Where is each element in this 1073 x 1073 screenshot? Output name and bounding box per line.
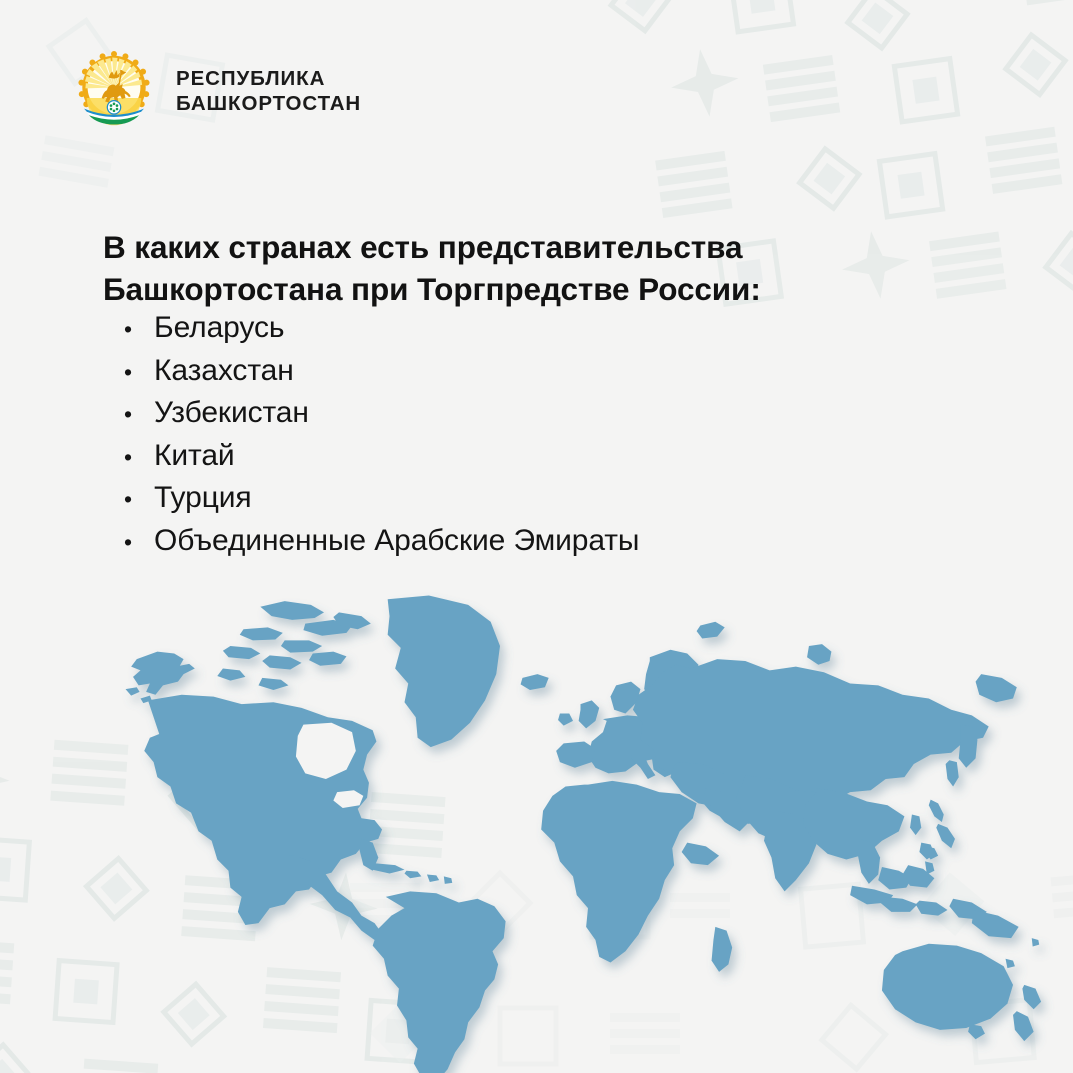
world-map-icon <box>112 588 1064 1028</box>
country-label: Узбекистан <box>154 397 309 429</box>
country-label: Турция <box>154 482 252 514</box>
list-item: • Объединенные Арабские Эмираты <box>124 525 639 568</box>
brand-line-2: БАШКОРТОСТАН <box>176 91 361 116</box>
bullet-icon: • <box>124 446 154 469</box>
bullet-icon: • <box>124 361 154 384</box>
poster-canvas: РЕСПУБЛИКА БАШКОРТОСТАН В каких странах … <box>0 0 1073 1073</box>
list-item: • Узбекистан <box>124 397 639 440</box>
country-label: Казахстан <box>154 355 294 387</box>
list-item: • Турция <box>124 482 639 525</box>
list-item: • Казахстан <box>124 355 639 398</box>
bullet-icon: • <box>124 318 154 341</box>
page-title: В каких странах есть представительства Б… <box>103 227 943 310</box>
page-title-line-2: Башкортостана при Торгпредстве России: <box>103 269 943 311</box>
country-list: • Беларусь • Казахстан • Узбекистан • Ки… <box>124 312 639 567</box>
world-map <box>112 588 1064 1028</box>
brand-lockup: РЕСПУБЛИКА БАШКОРТОСТАН <box>70 47 361 135</box>
country-label: Китай <box>154 440 235 472</box>
bullet-icon: • <box>124 403 154 426</box>
country-label: Объединенные Арабские Эмираты <box>154 525 639 557</box>
bullet-icon: • <box>124 531 154 554</box>
brand-line-1: РЕСПУБЛИКА <box>176 66 361 91</box>
world-map-landmasses <box>126 595 1042 1073</box>
page-title-line-1: В каких странах есть представительства <box>103 227 943 269</box>
bullet-icon: • <box>124 488 154 511</box>
list-item: • Китай <box>124 440 639 483</box>
country-label: Беларусь <box>154 312 284 344</box>
list-item: • Беларусь <box>124 312 639 355</box>
brand-name: РЕСПУБЛИКА БАШКОРТОСТАН <box>176 66 361 116</box>
coat-of-arms-bashkortostan-icon <box>70 47 158 135</box>
